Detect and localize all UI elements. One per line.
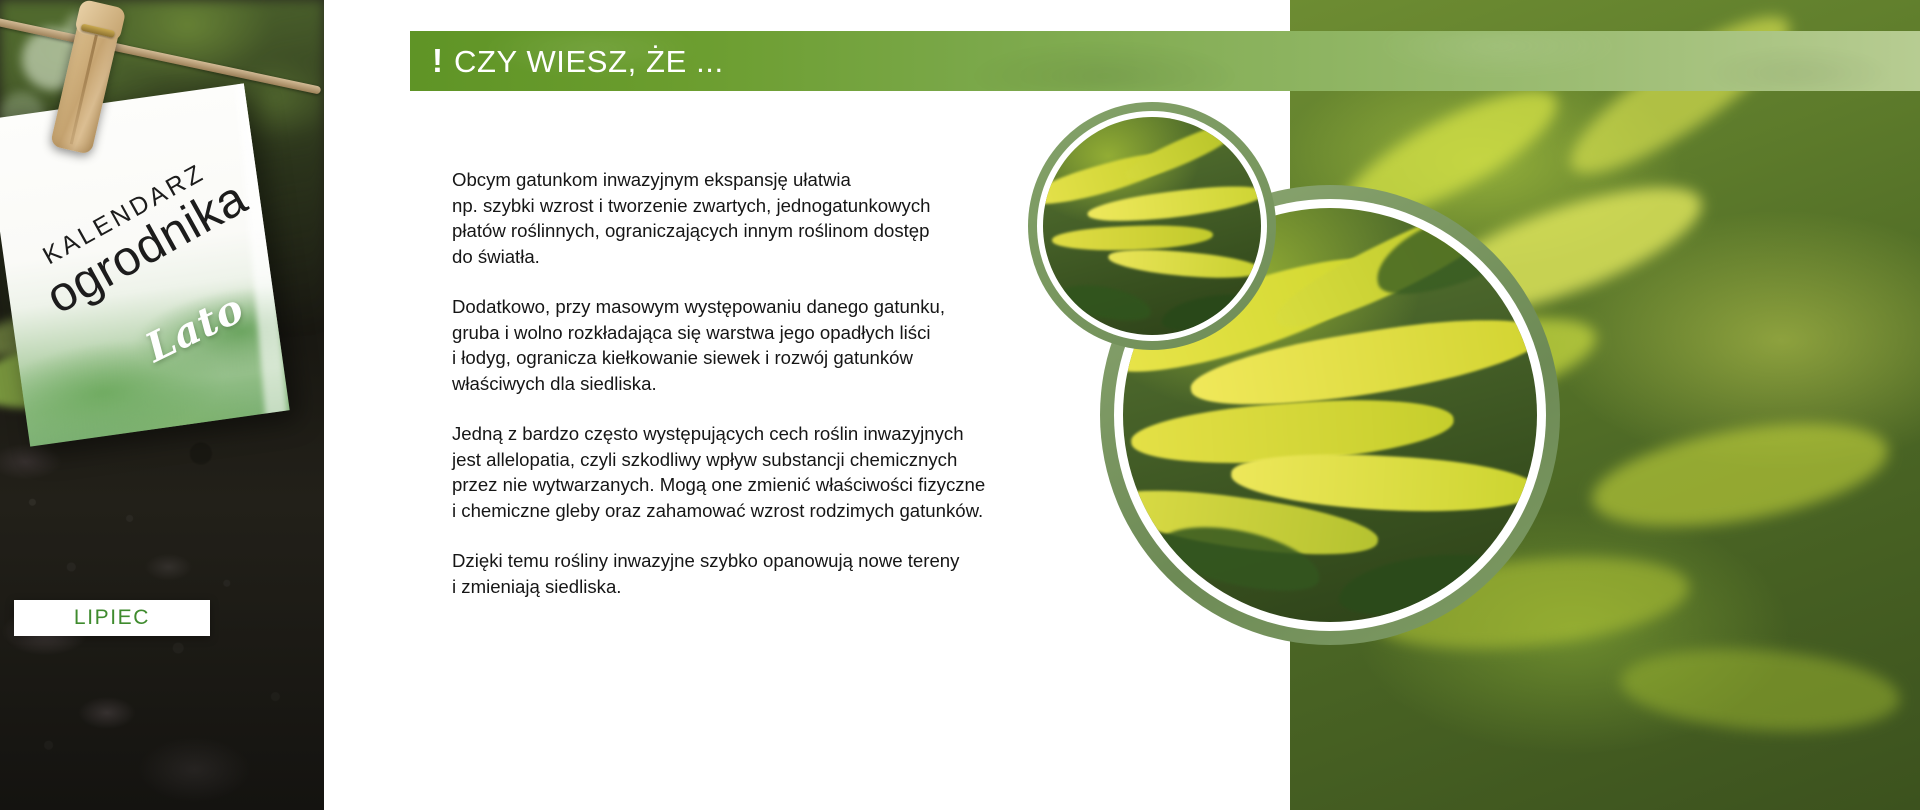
- exclamation-icon: !: [432, 44, 443, 77]
- article-body: Obcym gatunkom inwazyjnym ekspansję ułat…: [452, 167, 1092, 599]
- goldenrod-plants-photo-frame: [1028, 102, 1276, 350]
- paragraph: Jedną z bardzo często występujących cech…: [452, 421, 1092, 523]
- month-label: LIPIEC: [74, 606, 150, 630]
- banner-title: CZY WIESZ, ŻE ...: [454, 46, 724, 77]
- paragraph: Dodatkowo, przy masowym występowaniu dan…: [452, 294, 1092, 396]
- goldenrod-plants-photo: [1043, 117, 1261, 335]
- paragraph: Dzięki temu rośliny inwazyjne szybko opa…: [452, 548, 1092, 599]
- header-banner: ! CZY WIESZ, ŻE ...: [410, 31, 1920, 91]
- slide-root: KALENDARZ ogrodnika Lato LIPIEC ! CZY WI…: [0, 0, 1920, 810]
- left-cover-panel: KALENDARZ ogrodnika Lato LIPIEC: [0, 0, 324, 810]
- month-badge: LIPIEC: [14, 600, 210, 636]
- calendar-card: KALENDARZ ogrodnika Lato: [0, 83, 290, 446]
- paragraph: Obcym gatunkom inwazyjnym ekspansję ułat…: [452, 167, 1092, 269]
